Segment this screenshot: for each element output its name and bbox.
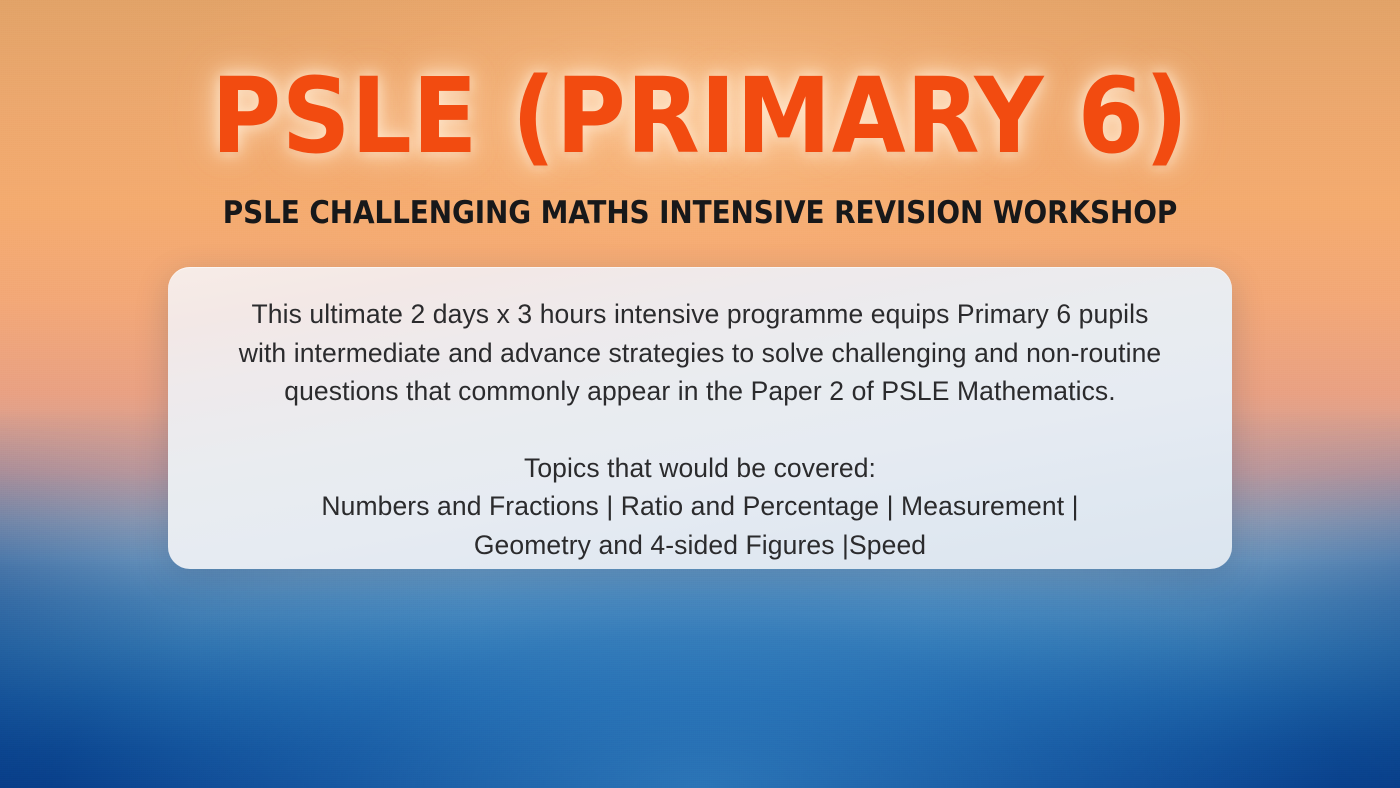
description-line-2: with intermediate and advance strategies… — [202, 334, 1198, 373]
page-subtitle: PSLE CHALLENGING MATHS INTENSIVE REVISIO… — [0, 196, 1400, 230]
description-line-1: This ultimate 2 days x 3 hours intensive… — [202, 295, 1198, 334]
description-card: This ultimate 2 days x 3 hours intensive… — [168, 267, 1232, 569]
topics-heading: Topics that would be covered: — [202, 449, 1198, 488]
topics-line-2: Geometry and 4-sided Figures |Speed — [202, 526, 1198, 565]
description-line-3: questions that commonly appear in the Pa… — [202, 372, 1198, 411]
card-spacer — [202, 411, 1198, 449]
description-card-text: This ultimate 2 days x 3 hours intensive… — [202, 295, 1198, 564]
promo-poster: PSLE (PRIMARY 6) PSLE CHALLENGING MATHS … — [0, 0, 1400, 788]
page-title: PSLE (PRIMARY 6) — [0, 64, 1400, 168]
poster-content: PSLE (PRIMARY 6) PSLE CHALLENGING MATHS … — [0, 0, 1400, 788]
topics-line-1: Numbers and Fractions | Ratio and Percen… — [202, 487, 1198, 526]
